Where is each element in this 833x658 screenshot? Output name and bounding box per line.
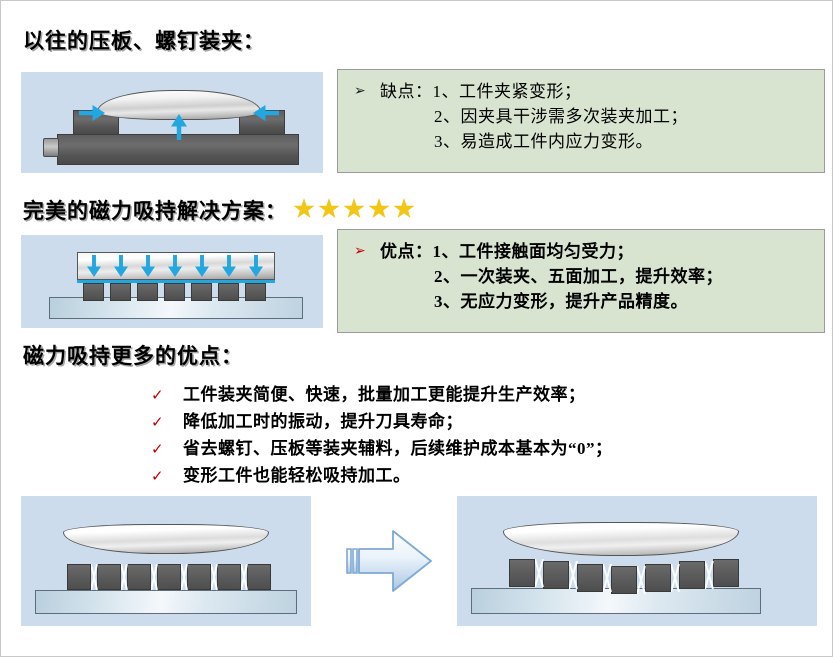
heading-text: 完美的磁力吸持解决方案： bbox=[23, 199, 287, 223]
illustration-old-clamping bbox=[21, 72, 323, 173]
list-item: ✓工件装夹简便、快速，批量加工更能提升生产效率； bbox=[151, 383, 613, 407]
check-icon: ✓ bbox=[151, 440, 183, 458]
page-title-old-method: 以往的压板、螺钉装夹： bbox=[23, 25, 265, 55]
page-title-more-advantages: 磁力吸持更多的优点： bbox=[23, 340, 243, 370]
check-icon: ✓ bbox=[151, 386, 183, 404]
callout-line: 3、无应力变形，提升产品精度。 bbox=[380, 289, 812, 314]
check-icon: ✓ bbox=[151, 467, 183, 485]
callout-line: 2、一次装夹、五面加工，提升效率； bbox=[380, 264, 812, 289]
workpiece-deformed bbox=[503, 522, 739, 556]
flux-line bbox=[569, 561, 603, 597]
pole-block bbox=[245, 283, 266, 301]
callout-advantages-lines: 优点：1、工件接触面均匀受力； 2、一次装夹、五面加工，提升效率； 3、无应力变… bbox=[380, 239, 812, 314]
flux-line bbox=[637, 566, 671, 602]
callout-disadvantages: ➢ 缺点：1、工件夹紧变形； 2、因夹具干涉需多次装夹加工； 3、易造成工件内应… bbox=[337, 69, 825, 173]
list-item: ✓省去螺钉、压板等装夹辅料，后续维护成本基本为“0”； bbox=[151, 437, 613, 461]
flux-line bbox=[705, 561, 739, 597]
callout-line: 优点：1、工件接触面均匀受力； bbox=[380, 239, 812, 264]
list-item-label: 省去螺钉、压板等装夹辅料，后续维护成本基本为“0”； bbox=[183, 437, 613, 461]
list-item-label: 变形工件也能轻松吸持加工。 bbox=[183, 464, 411, 488]
pole-block bbox=[67, 564, 91, 590]
transition-arrow-icon bbox=[341, 523, 437, 599]
pole-block bbox=[137, 283, 158, 301]
flux-line bbox=[603, 564, 637, 600]
list-item-label: 工件装夹简便、快速，批量加工更能提升生产效率； bbox=[183, 383, 586, 407]
pole-block bbox=[83, 283, 104, 301]
callout-line: 缺点：1、工件夹紧变形； bbox=[380, 79, 812, 104]
pole-block bbox=[164, 283, 185, 301]
pole-block bbox=[110, 283, 131, 301]
callout-line: 2、因夹具干涉需多次装夹加工； bbox=[380, 104, 812, 129]
slide-page: 以往的压板、螺钉装夹： ➢ 缺点：1、工件夹紧变形； 2、因夹具干涉需多次装夹加… bbox=[1, 1, 833, 658]
pole-block bbox=[218, 283, 239, 301]
callout-disadvantages-lines: 缺点：1、工件夹紧变形； 2、因夹具干涉需多次装夹加工； 3、易造成工件内应力变… bbox=[380, 79, 812, 154]
illustration-deformed-after bbox=[457, 496, 817, 626]
pole-block bbox=[509, 559, 535, 587]
list-item: ✓降低加工时的振动，提升刀具寿命； bbox=[151, 410, 613, 434]
star-icon bbox=[293, 198, 315, 220]
star-icon bbox=[318, 198, 340, 220]
table-knob bbox=[43, 138, 59, 157]
arrow-bullet-icon: ➢ bbox=[348, 239, 380, 264]
callout-advantages: ➢ 优点：1、工件接触面均匀受力； 2、一次装夹、五面加工，提升效率； 3、无应… bbox=[337, 229, 825, 333]
flux-line bbox=[241, 564, 271, 598]
illustration-magnetic-uniform bbox=[21, 235, 323, 328]
list-item-label: 降低加工时的振动，提升刀具寿命； bbox=[183, 410, 463, 434]
star-icon bbox=[368, 198, 390, 220]
illustration-deformed-before bbox=[21, 496, 311, 626]
check-icon: ✓ bbox=[151, 413, 183, 431]
flux-line bbox=[671, 564, 705, 600]
flux-line bbox=[211, 564, 241, 598]
callout-line: 3、易造成工件内应力变形。 bbox=[380, 129, 812, 154]
flux-line bbox=[535, 559, 569, 595]
arrow-bullet-icon: ➢ bbox=[348, 79, 380, 104]
list-item: ✓变形工件也能轻松吸持加工。 bbox=[151, 464, 613, 488]
advantages-list: ✓工件装夹简便、快速，批量加工更能提升生产效率；✓降低加工时的振动，提升刀具寿命… bbox=[151, 383, 613, 491]
flux-line bbox=[181, 564, 211, 598]
flux-line bbox=[151, 564, 181, 598]
rating-stars bbox=[293, 198, 418, 226]
workpiece-deformed bbox=[63, 524, 269, 554]
page-title-magnetic-solution: 完美的磁力吸持解决方案： bbox=[23, 195, 418, 226]
pole-block bbox=[191, 283, 212, 301]
flux-line bbox=[121, 564, 151, 598]
star-icon bbox=[393, 198, 415, 220]
flux-line bbox=[91, 564, 121, 598]
star-icon bbox=[343, 198, 365, 220]
